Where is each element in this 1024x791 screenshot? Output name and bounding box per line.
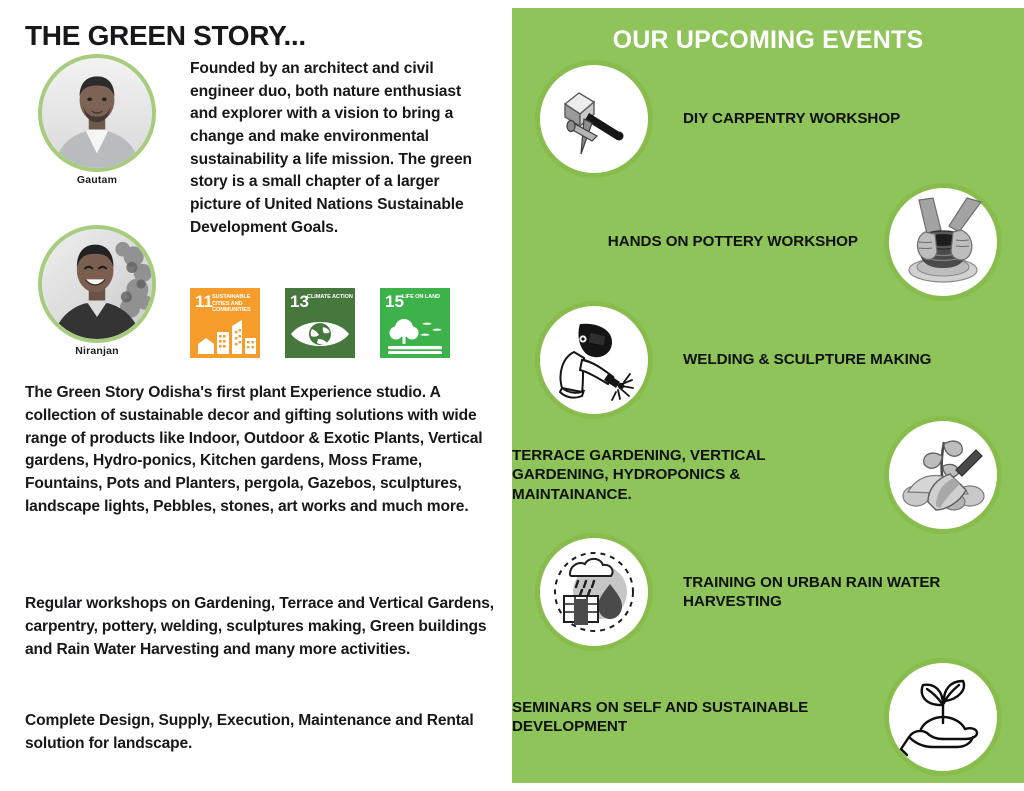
portrait-photo-gautam bbox=[42, 58, 152, 168]
event-label: TERRACE GARDENING, VERTICAL GARDENING, H… bbox=[512, 446, 858, 504]
event-item[interactable]: TRAINING ON URBAN RAIN WATER HARVESTING bbox=[535, 533, 1024, 651]
event-label: DIY CARPENTRY WORKSHOP bbox=[683, 109, 900, 128]
event-label: HANDS ON POTTERY WORKSHOP bbox=[608, 232, 858, 251]
green-story-column: THE GREEN STORY... bbox=[0, 0, 512, 791]
sdg-number: 11 bbox=[195, 293, 213, 310]
event-item[interactable]: HANDS ON POTTERY WORKSHOP bbox=[608, 183, 1002, 301]
hammer-and-nails-icon bbox=[551, 76, 637, 162]
team-member-gautam: Gautam bbox=[38, 54, 156, 186]
hand-holding-seedling-icon bbox=[897, 671, 989, 763]
sdg-label: LIFE ON LAND bbox=[402, 294, 448, 301]
sdg-badge-row: 11 SUSTAINABLE CITIES AND COMMUNITIES bbox=[190, 288, 450, 358]
avatar bbox=[38, 225, 156, 343]
eye-globe-icon bbox=[285, 314, 355, 354]
sdg-badge-15: 15 LIFE ON LAND bbox=[380, 288, 450, 358]
team-member-name: Niranjan bbox=[38, 345, 156, 357]
sdg-label: SUSTAINABLE CITIES AND COMMUNITIES bbox=[212, 294, 258, 314]
event-icon-circle bbox=[535, 301, 653, 419]
page-title: THE GREEN STORY... bbox=[25, 22, 306, 50]
welder-icon bbox=[550, 316, 638, 404]
brochure-page: THE GREEN STORY... bbox=[0, 0, 1024, 791]
team-member-name: Gautam bbox=[38, 174, 156, 186]
services-paragraph: Complete Design, Supply, Execution, Main… bbox=[25, 710, 505, 756]
event-item[interactable]: TERRACE GARDENING, VERTICAL GARDENING, H… bbox=[512, 416, 1002, 534]
event-label: TRAINING ON URBAN RAIN WATER HARVESTING bbox=[683, 573, 1024, 612]
upcoming-events-panel: OUR UPCOMING EVENTS bbox=[512, 8, 1024, 783]
event-icon-circle bbox=[884, 416, 1002, 534]
rain-water-harvesting-icon bbox=[550, 548, 638, 636]
pottery-wheel-hands-icon bbox=[897, 196, 989, 288]
event-item[interactable]: DIY CARPENTRY WORKSHOP bbox=[535, 60, 900, 178]
avatar bbox=[38, 54, 156, 172]
event-item[interactable]: WELDING & SCULPTURE MAKING bbox=[535, 301, 931, 419]
city-buildings-icon bbox=[190, 314, 260, 354]
about-paragraph: The Green Story Odisha's first plant Exp… bbox=[25, 382, 495, 519]
intro-paragraph: Founded by an architect and civil engine… bbox=[190, 58, 490, 240]
workshops-paragraph: Regular workshops on Gardening, Terrace … bbox=[25, 593, 500, 661]
event-icon-circle bbox=[535, 533, 653, 651]
event-label: SEMINARS ON SELF AND SUSTAINABLE DEVELOP… bbox=[512, 698, 858, 737]
team-member-niranjan: Niranjan bbox=[38, 225, 156, 357]
event-icon-circle bbox=[535, 60, 653, 178]
sdg-label: CLIMATE ACTION bbox=[307, 294, 353, 301]
trowel-seedling-icon bbox=[898, 430, 988, 520]
sdg-badge-13: 13 CLIMATE ACTION bbox=[285, 288, 355, 358]
tree-birds-icon bbox=[380, 314, 450, 354]
event-icon-circle bbox=[884, 658, 1002, 776]
event-item[interactable]: SEMINARS ON SELF AND SUSTAINABLE DEVELOP… bbox=[512, 658, 1002, 776]
sdg-badge-11: 11 SUSTAINABLE CITIES AND COMMUNITIES bbox=[190, 288, 260, 358]
event-label: WELDING & SCULPTURE MAKING bbox=[683, 350, 931, 369]
portrait-photo-niranjan bbox=[42, 229, 152, 339]
events-title: OUR UPCOMING EVENTS bbox=[512, 26, 1024, 55]
event-icon-circle bbox=[884, 183, 1002, 301]
